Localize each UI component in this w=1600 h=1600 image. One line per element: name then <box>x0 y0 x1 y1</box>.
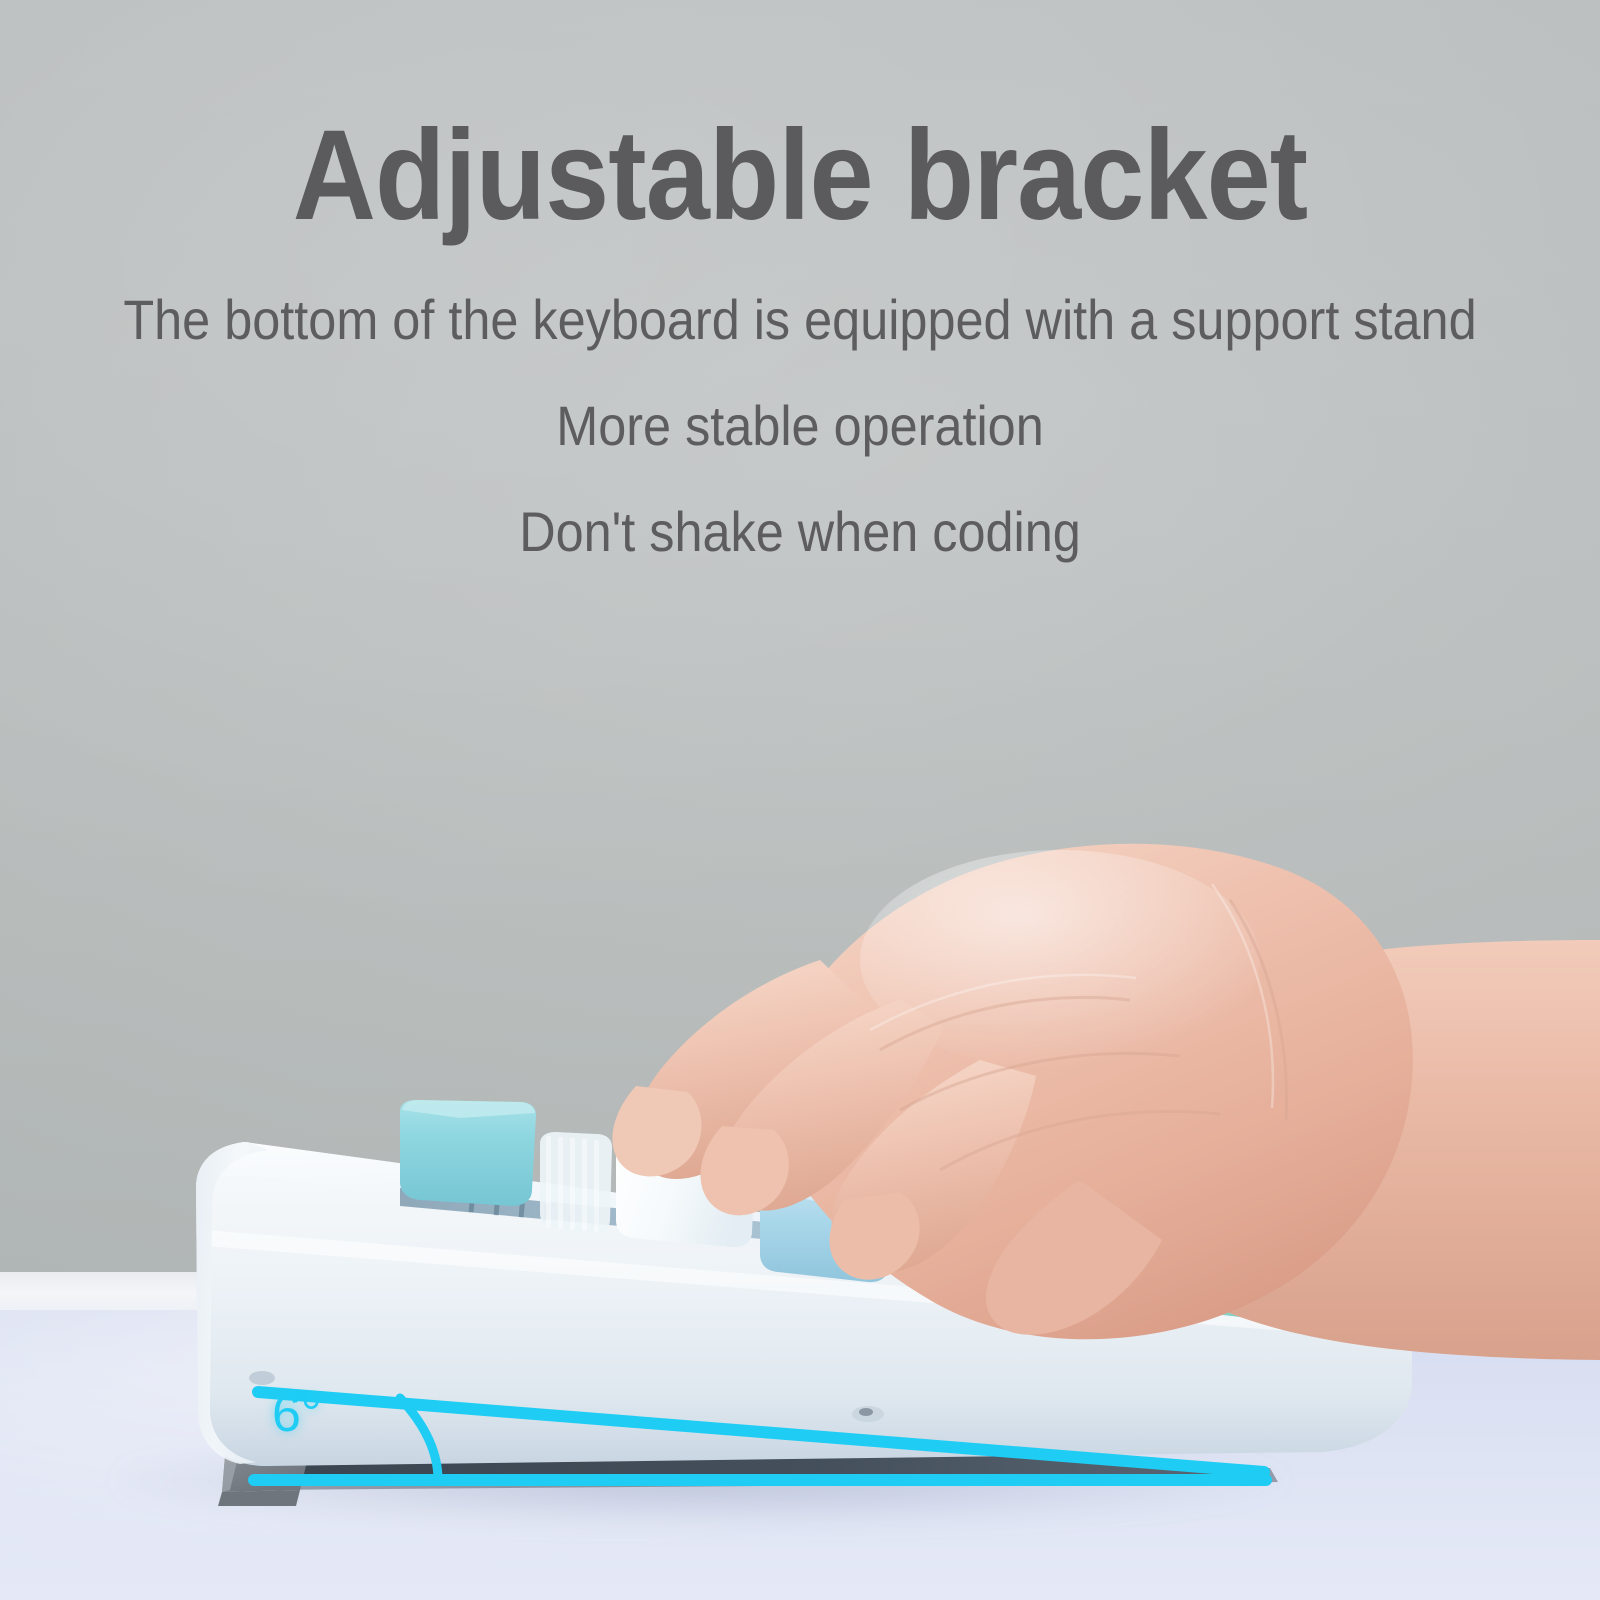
subtitle-line-1: The bottom of the keyboard is equipped w… <box>80 292 1520 348</box>
desk-surface <box>0 1310 1600 1600</box>
subtitle-line-2: More stable operation <box>80 398 1520 454</box>
page-title: Adjustable bracket <box>80 0 1520 240</box>
product-promo-image: Adjustable bracket The bottom of the key… <box>0 0 1600 1600</box>
subtitle-line-3: Don't shake when coding <box>80 504 1520 560</box>
heading-block: Adjustable bracket The bottom of the key… <box>0 0 1600 560</box>
